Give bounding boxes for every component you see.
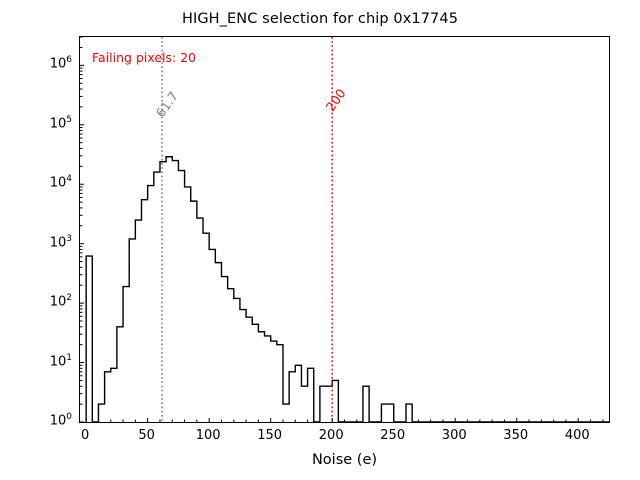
y-tick-label: 104 bbox=[26, 176, 72, 191]
y-tick-label: 105 bbox=[26, 116, 72, 131]
plot-area: Failing pixels: 20 61.7 200 bbox=[79, 36, 610, 423]
x-tick-label: 350 bbox=[503, 428, 528, 443]
x-tick-label: 150 bbox=[257, 428, 282, 443]
x-tick-label: 250 bbox=[380, 428, 405, 443]
x-tick-label: 50 bbox=[138, 428, 155, 443]
x-tick-label: 300 bbox=[442, 428, 467, 443]
x-tick-label: 100 bbox=[196, 428, 221, 443]
y-tick-label: 100 bbox=[26, 414, 72, 429]
x-axis-label: Noise (e) bbox=[79, 452, 610, 468]
y-tick-label: 102 bbox=[26, 295, 72, 310]
page-title: HIGH_ENC selection for chip 0x17745 bbox=[0, 11, 640, 27]
histogram-outline bbox=[86, 157, 609, 422]
histogram-step-line bbox=[86, 157, 609, 422]
vertical-reference-lines bbox=[162, 37, 332, 422]
y-tick-label: 103 bbox=[26, 235, 72, 250]
x-tick-label: 400 bbox=[565, 428, 590, 443]
failing-pixels-annotation: Failing pixels: 20 bbox=[92, 50, 196, 65]
x-tick-label: 0 bbox=[81, 428, 89, 443]
y-tick-label: 101 bbox=[26, 354, 72, 369]
chart-figure: HIGH_ENC selection for chip 0x17745 Numb… bbox=[0, 0, 640, 480]
y-tick-label: 106 bbox=[26, 57, 72, 72]
x-tick-label: 200 bbox=[319, 428, 344, 443]
